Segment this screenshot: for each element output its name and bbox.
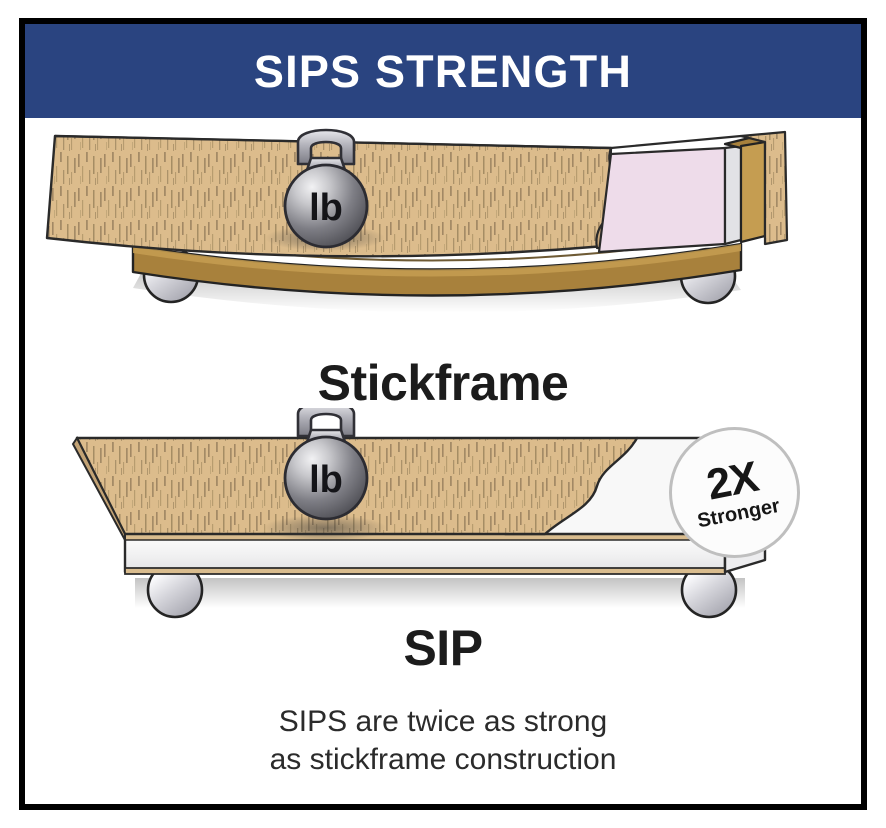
weight-value-label: lb: [309, 187, 343, 229]
fiberglass-insulation: [599, 148, 725, 252]
infographic-card: SIPS STRENGTH: [19, 18, 867, 810]
weight-value-label: lb: [309, 459, 343, 501]
insulation-side-face: [725, 146, 741, 244]
bottom-osb-skin: [125, 568, 725, 574]
caption-line-2: as stickframe construction: [25, 741, 861, 779]
stickframe-label: Stickframe: [25, 358, 861, 408]
stickframe-illustration: lb: [25, 118, 861, 368]
panel-drop-shadow: [135, 578, 745, 608]
stickframe-diagram: lb: [25, 118, 861, 368]
sip-label: SIP: [25, 623, 861, 673]
right-end-stud: [741, 142, 765, 242]
illustration-area: lb: [25, 118, 861, 804]
caption: SIPS are twice as strong as stickframe c…: [25, 703, 861, 780]
header-band: SIPS STRENGTH: [25, 24, 861, 118]
kettlebell-weight-icon: lb: [285, 408, 367, 519]
page-title: SIPS STRENGTH: [254, 49, 632, 94]
caption-line-1: SIPS are twice as strong: [25, 703, 861, 741]
